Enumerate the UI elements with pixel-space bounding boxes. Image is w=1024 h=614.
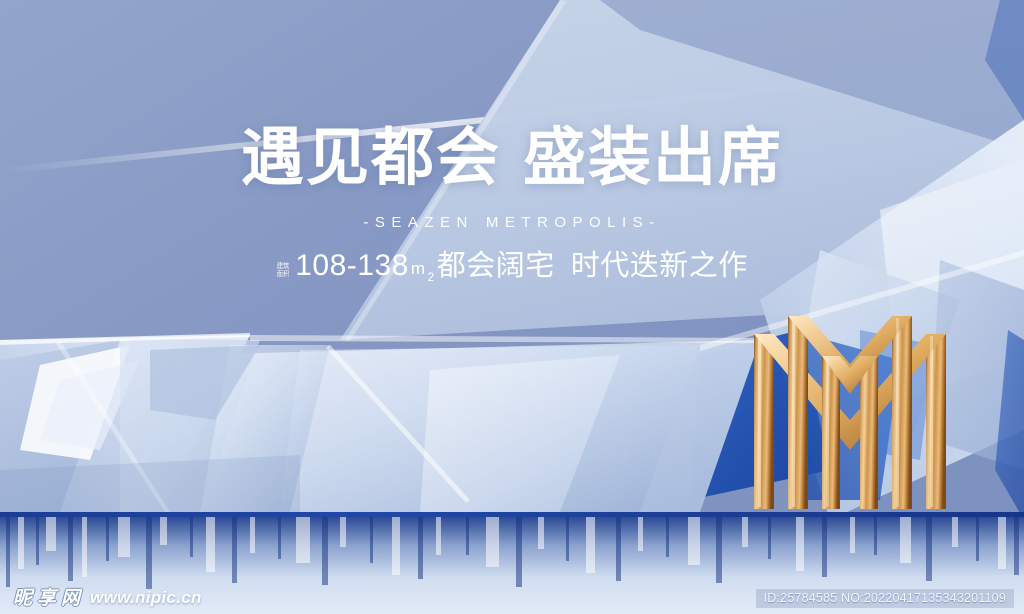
area-desc-primary: 都会阔宅 [437, 249, 555, 283]
gold-logo-svg [744, 304, 956, 516]
subtitle-suffix: - [649, 214, 661, 231]
area-description-line: 建筑 面积 108-138m2都会阔宅时代迭新之作 [0, 249, 1024, 283]
area-unit-superscript: 2 [428, 271, 435, 283]
watermark-id-text: ID:25784585 NO:20220417135343201109 [756, 589, 1014, 608]
poster-canvas: 遇见都会盛装出席 -SEAZENMETROPOLIS- 建筑 面积 108-13… [0, 0, 1024, 614]
area-range-value: 108-138 [295, 249, 409, 283]
page-title: 遇见都会盛装出席 [0, 118, 1024, 198]
headline-left: 遇见都会 [241, 123, 501, 193]
nipic-logo-char-1: 昵 [12, 588, 33, 608]
brand-subtitle: -SEAZENMETROPOLIS- [0, 214, 1024, 231]
watermark-bar: 昵 享 网 www.nipic.cn ID:25784585 NO:202204… [0, 582, 1024, 614]
seazen-gold-m-logo [744, 304, 956, 516]
area-unit: m [411, 255, 426, 283]
nipic-logo-char-3: 网 [60, 588, 81, 608]
subtitle-word-seazen: SEAZEN [375, 214, 474, 231]
nipic-logo: 昵 享 网 [12, 588, 81, 608]
poster-copy: 遇见都会盛装出席 -SEAZENMETROPOLIS- 建筑 面积 108-13… [0, 118, 1024, 283]
area-label-bottom: 面积 [277, 271, 290, 279]
subtitle-prefix: - [363, 214, 375, 231]
nipic-logo-char-2: 享 [36, 588, 57, 608]
area-label-top: 建筑 [277, 263, 290, 271]
area-desc-secondary: 时代迭新之作 [571, 249, 748, 283]
headline-right: 盛装出席 [523, 123, 783, 193]
subtitle-word-metropolis: METROPOLIS [486, 214, 649, 231]
area-label-tag: 建筑 面积 [277, 263, 290, 279]
watermark-url: www.nipic.cn [90, 588, 202, 608]
